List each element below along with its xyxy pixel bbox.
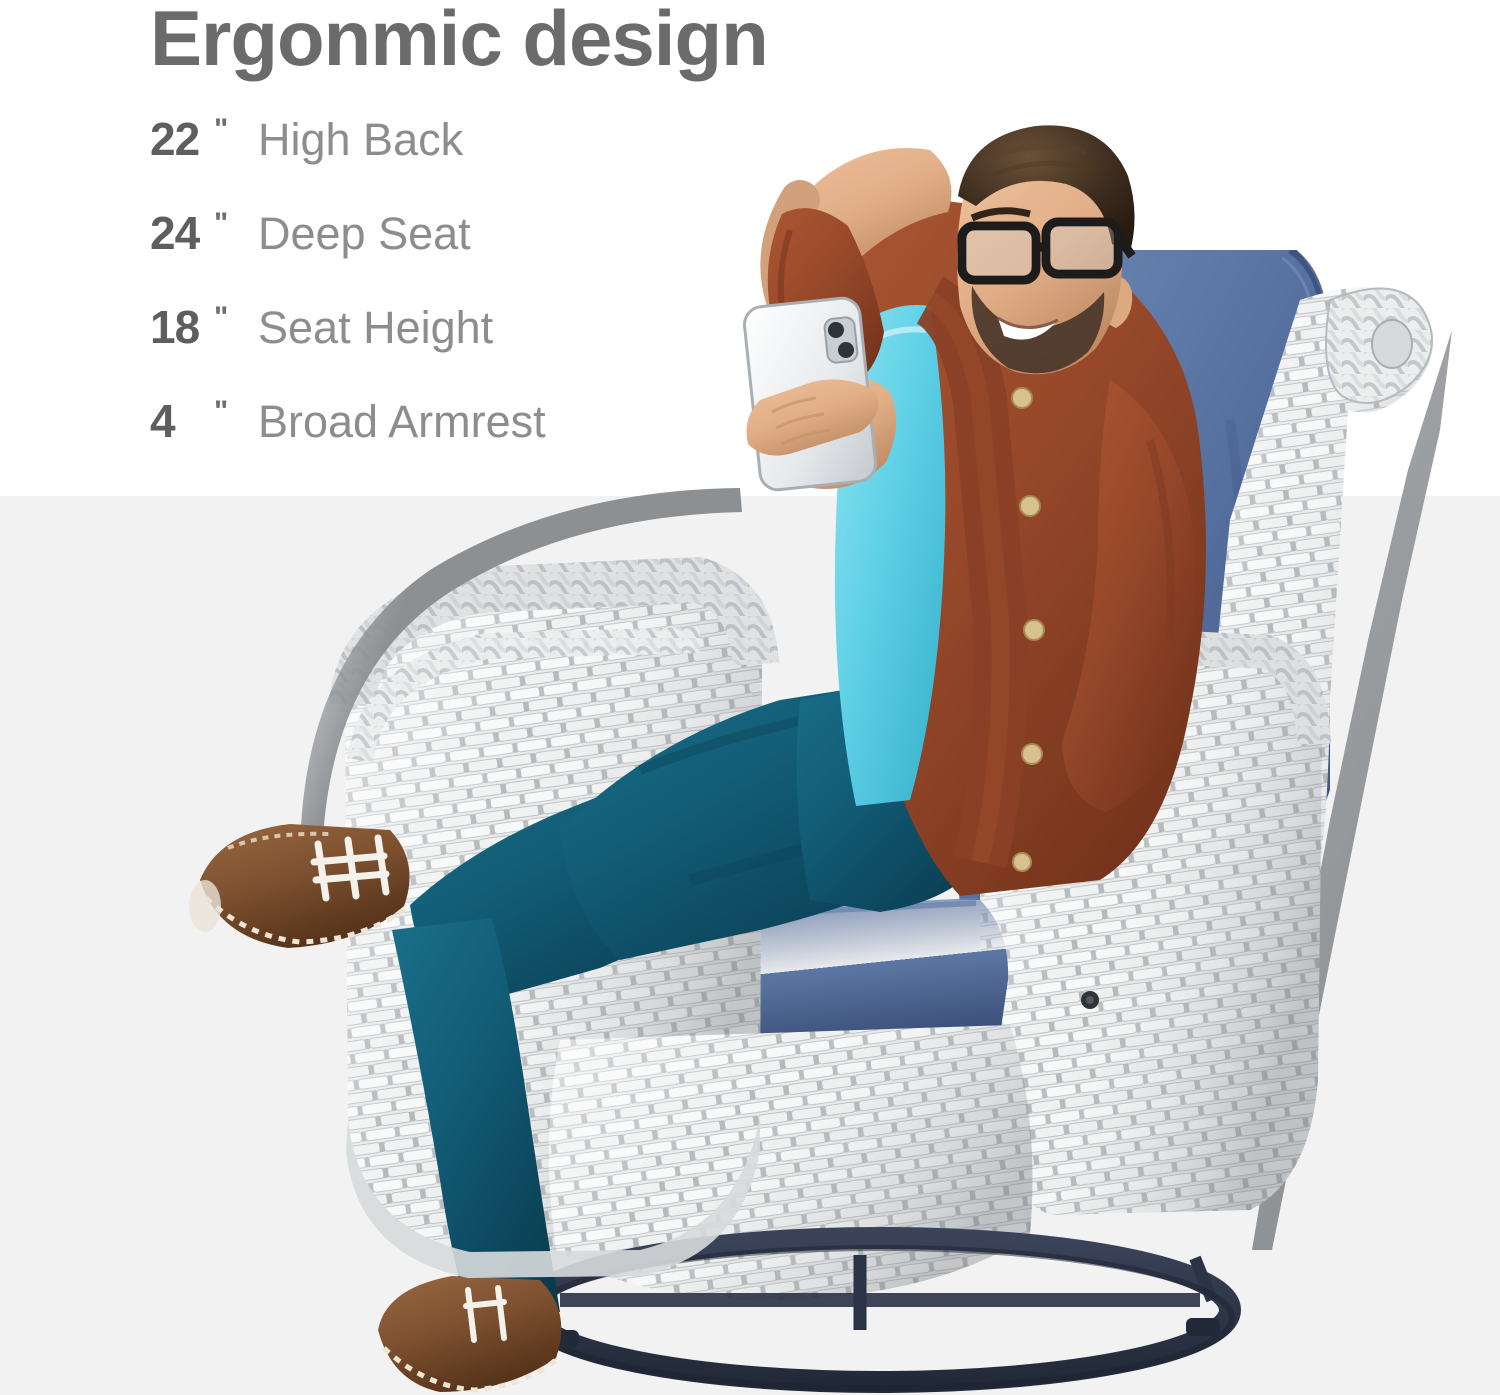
spec-label: Seat Height [258, 302, 493, 354]
spec-list: 22 " High Back 24 " Deep Seat 18 " Seat … [150, 112, 710, 488]
spec-label: High Back [258, 114, 463, 166]
spec-value: 22 [150, 112, 214, 166]
spec-row-broad-armrest: 4 " Broad Armrest [150, 394, 710, 488]
page-title: Ergonmic design [150, 0, 768, 80]
inch-mark-icon: " [214, 113, 258, 147]
spec-value: 24 [150, 206, 214, 260]
product-feature-image: Ergonmic design 22 " High Back 24 " Deep… [0, 0, 1500, 1395]
spec-value: 18 [150, 300, 214, 354]
brown-loafer-shoe-bottom [378, 1276, 561, 1392]
spec-value: 4 [150, 394, 214, 448]
inch-mark-icon: " [214, 207, 258, 241]
spec-label: Broad Armrest [258, 396, 546, 448]
inch-mark-icon: " [214, 395, 258, 429]
spec-row-seat-height: 18 " Seat Height [150, 300, 710, 394]
spec-row-high-back: 22 " High Back [150, 112, 710, 206]
spec-label: Deep Seat [258, 208, 471, 260]
inch-mark-icon: " [214, 301, 258, 335]
spec-row-deep-seat: 24 " Deep Seat [150, 206, 710, 300]
hand-holding-phone [743, 296, 878, 491]
